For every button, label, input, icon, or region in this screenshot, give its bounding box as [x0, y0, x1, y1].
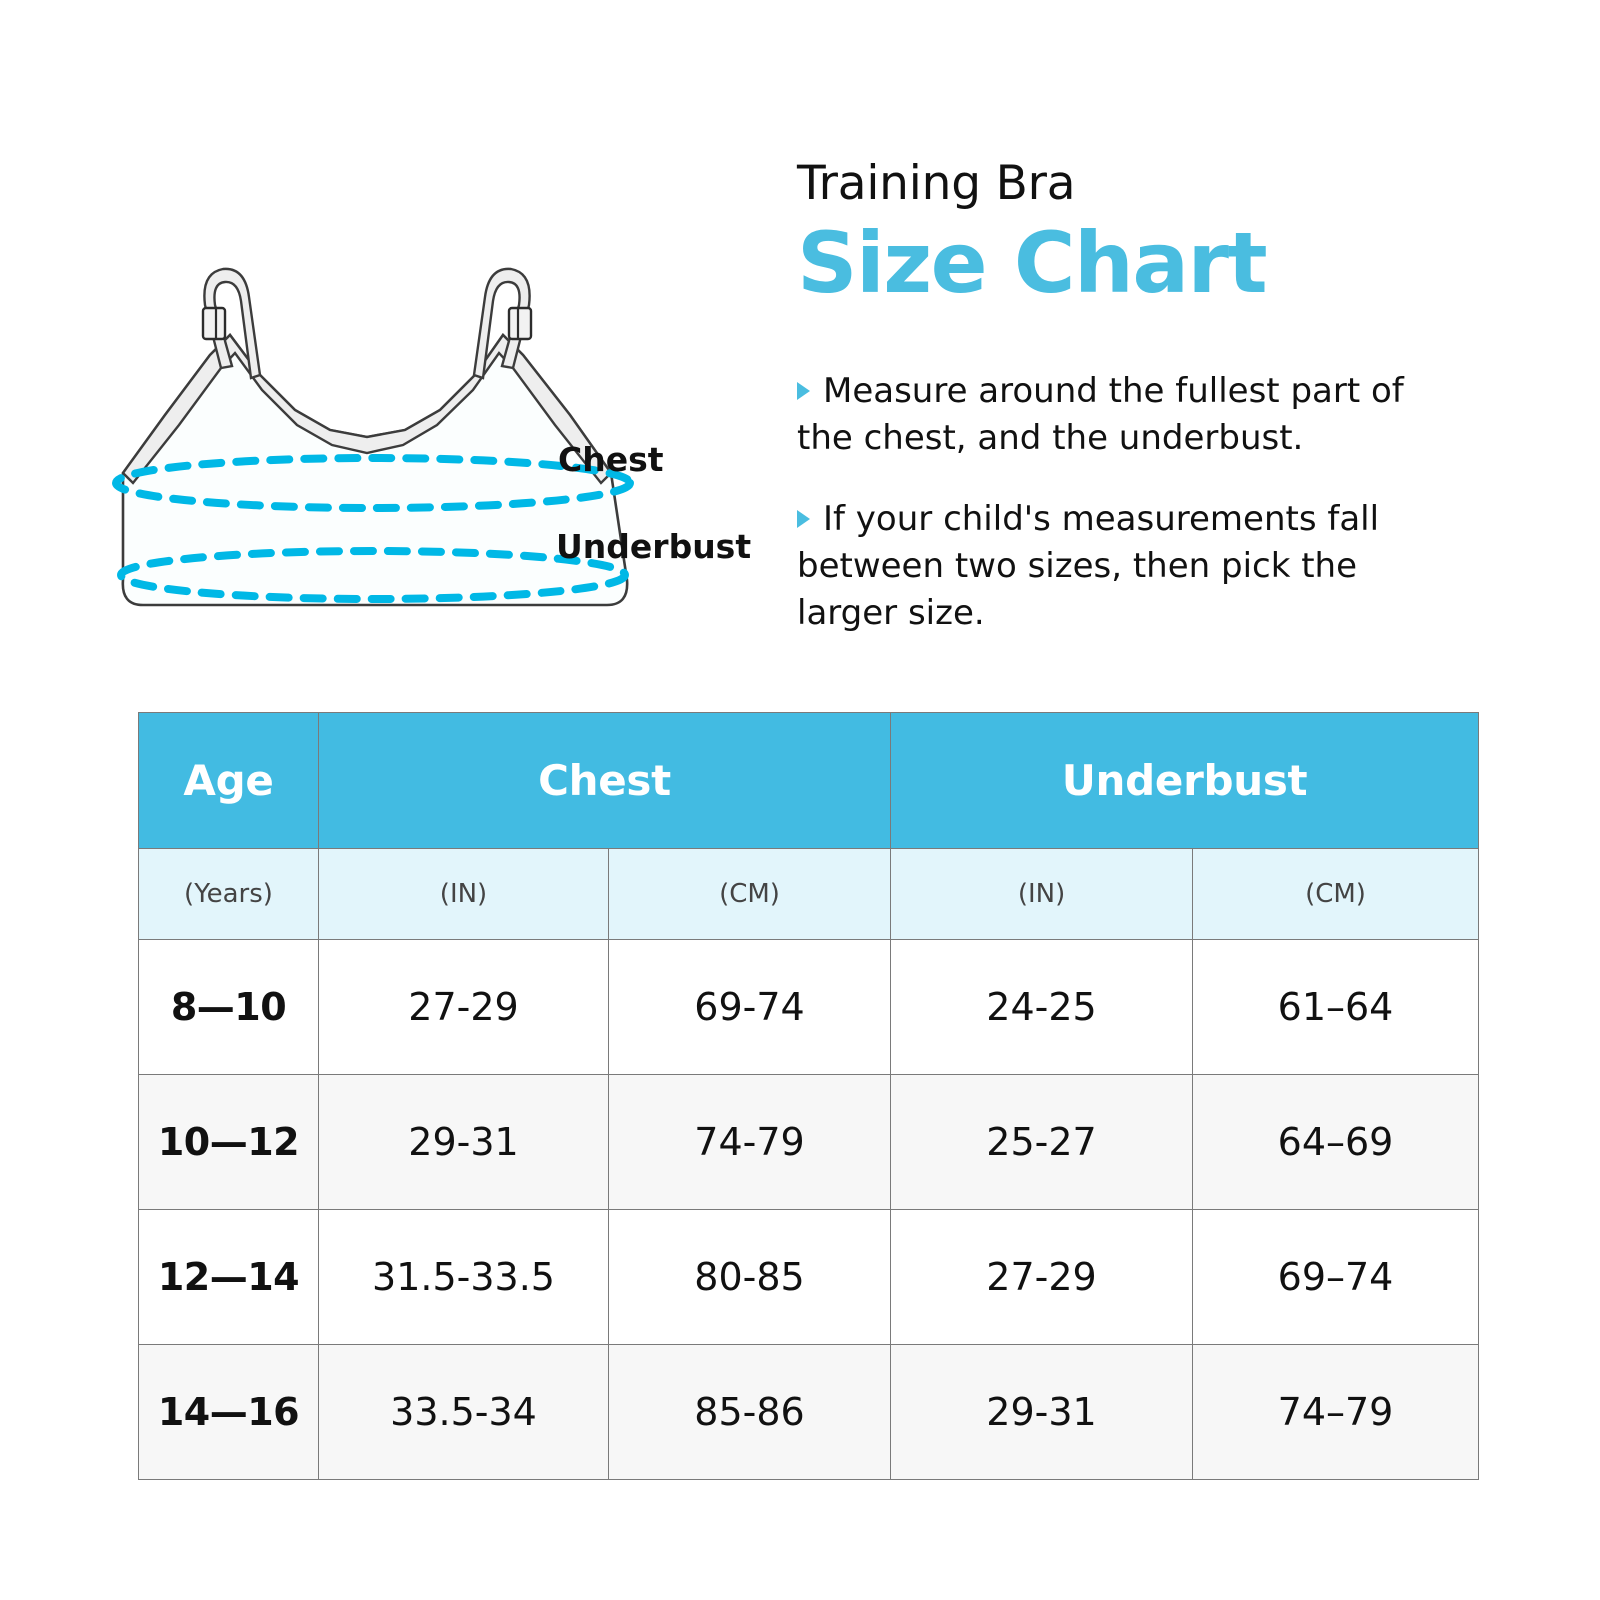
cell-underbust-cm: 74–79: [1193, 1345, 1479, 1480]
title-block: Training Bra Size Chart: [797, 155, 1497, 311]
unit-header-chest-in: (IN): [319, 849, 609, 940]
cell-chest-cm: 74-79: [609, 1075, 891, 1210]
page-title: Size Chart: [797, 215, 1497, 311]
instruction-text: Measure around the fullest part of the c…: [797, 371, 1404, 458]
cell-underbust-cm: 69–74: [1193, 1210, 1479, 1345]
table-row: 12—14 31.5-33.5 80-85 27-29 69–74: [139, 1210, 1479, 1345]
instructions-list: Measure around the fullest part of the c…: [797, 368, 1467, 637]
instruction-item: If your child's measurements fall betwee…: [797, 496, 1467, 637]
cell-underbust-in: 27-29: [891, 1210, 1193, 1345]
cell-chest-in: 29-31: [319, 1075, 609, 1210]
strap-slider-left: [203, 308, 225, 339]
unit-header-underbust-cm: (CM): [1193, 849, 1479, 940]
strap-slider-right: [509, 308, 531, 339]
triangle-bullet-icon: [797, 510, 810, 528]
unit-header-age: (Years): [139, 849, 319, 940]
cell-underbust-in: 29-31: [891, 1345, 1193, 1480]
cell-age: 14—16: [139, 1345, 319, 1480]
cell-age: 12—14: [139, 1210, 319, 1345]
cell-chest-cm: 80-85: [609, 1210, 891, 1345]
table-unit-row: (Years) (IN) (CM) (IN) (CM): [139, 849, 1479, 940]
cell-underbust-in: 24-25: [891, 940, 1193, 1075]
size-chart-table: Age Chest Underbust (Years) (IN) (CM) (I…: [138, 712, 1479, 1480]
instruction-text: If your child's measurements fall betwee…: [797, 499, 1379, 633]
cell-age: 10—12: [139, 1075, 319, 1210]
cell-underbust-cm: 64–69: [1193, 1075, 1479, 1210]
cell-chest-in: 27-29: [319, 940, 609, 1075]
cell-underbust-in: 25-27: [891, 1075, 1193, 1210]
chest-label: Chest: [558, 440, 664, 479]
table-row: 14—16 33.5-34 85-86 29-31 74–79: [139, 1345, 1479, 1480]
unit-header-underbust-in: (IN): [891, 849, 1193, 940]
table-row: 10—12 29-31 74-79 25-27 64–69: [139, 1075, 1479, 1210]
table-header-row: Age Chest Underbust: [139, 713, 1479, 849]
column-header-chest: Chest: [319, 713, 891, 849]
unit-header-chest-cm: (CM): [609, 849, 891, 940]
cell-chest-in: 33.5-34: [319, 1345, 609, 1480]
header-section: Chest Underbust Training Bra Size Chart …: [0, 0, 1600, 700]
column-header-age: Age: [139, 713, 319, 849]
cell-chest-cm: 85-86: [609, 1345, 891, 1480]
instruction-item: Measure around the fullest part of the c…: [797, 368, 1467, 462]
product-name: Training Bra: [797, 155, 1497, 213]
underbust-label: Underbust: [556, 527, 751, 566]
column-header-underbust: Underbust: [891, 713, 1479, 849]
cell-chest-in: 31.5-33.5: [319, 1210, 609, 1345]
table-row: 8—10 27-29 69-74 24-25 61–64: [139, 940, 1479, 1075]
triangle-bullet-icon: [797, 382, 810, 400]
cell-underbust-cm: 61–64: [1193, 940, 1479, 1075]
cell-age: 8—10: [139, 940, 319, 1075]
bra-illustration: [55, 225, 775, 655]
cell-chest-cm: 69-74: [609, 940, 891, 1075]
